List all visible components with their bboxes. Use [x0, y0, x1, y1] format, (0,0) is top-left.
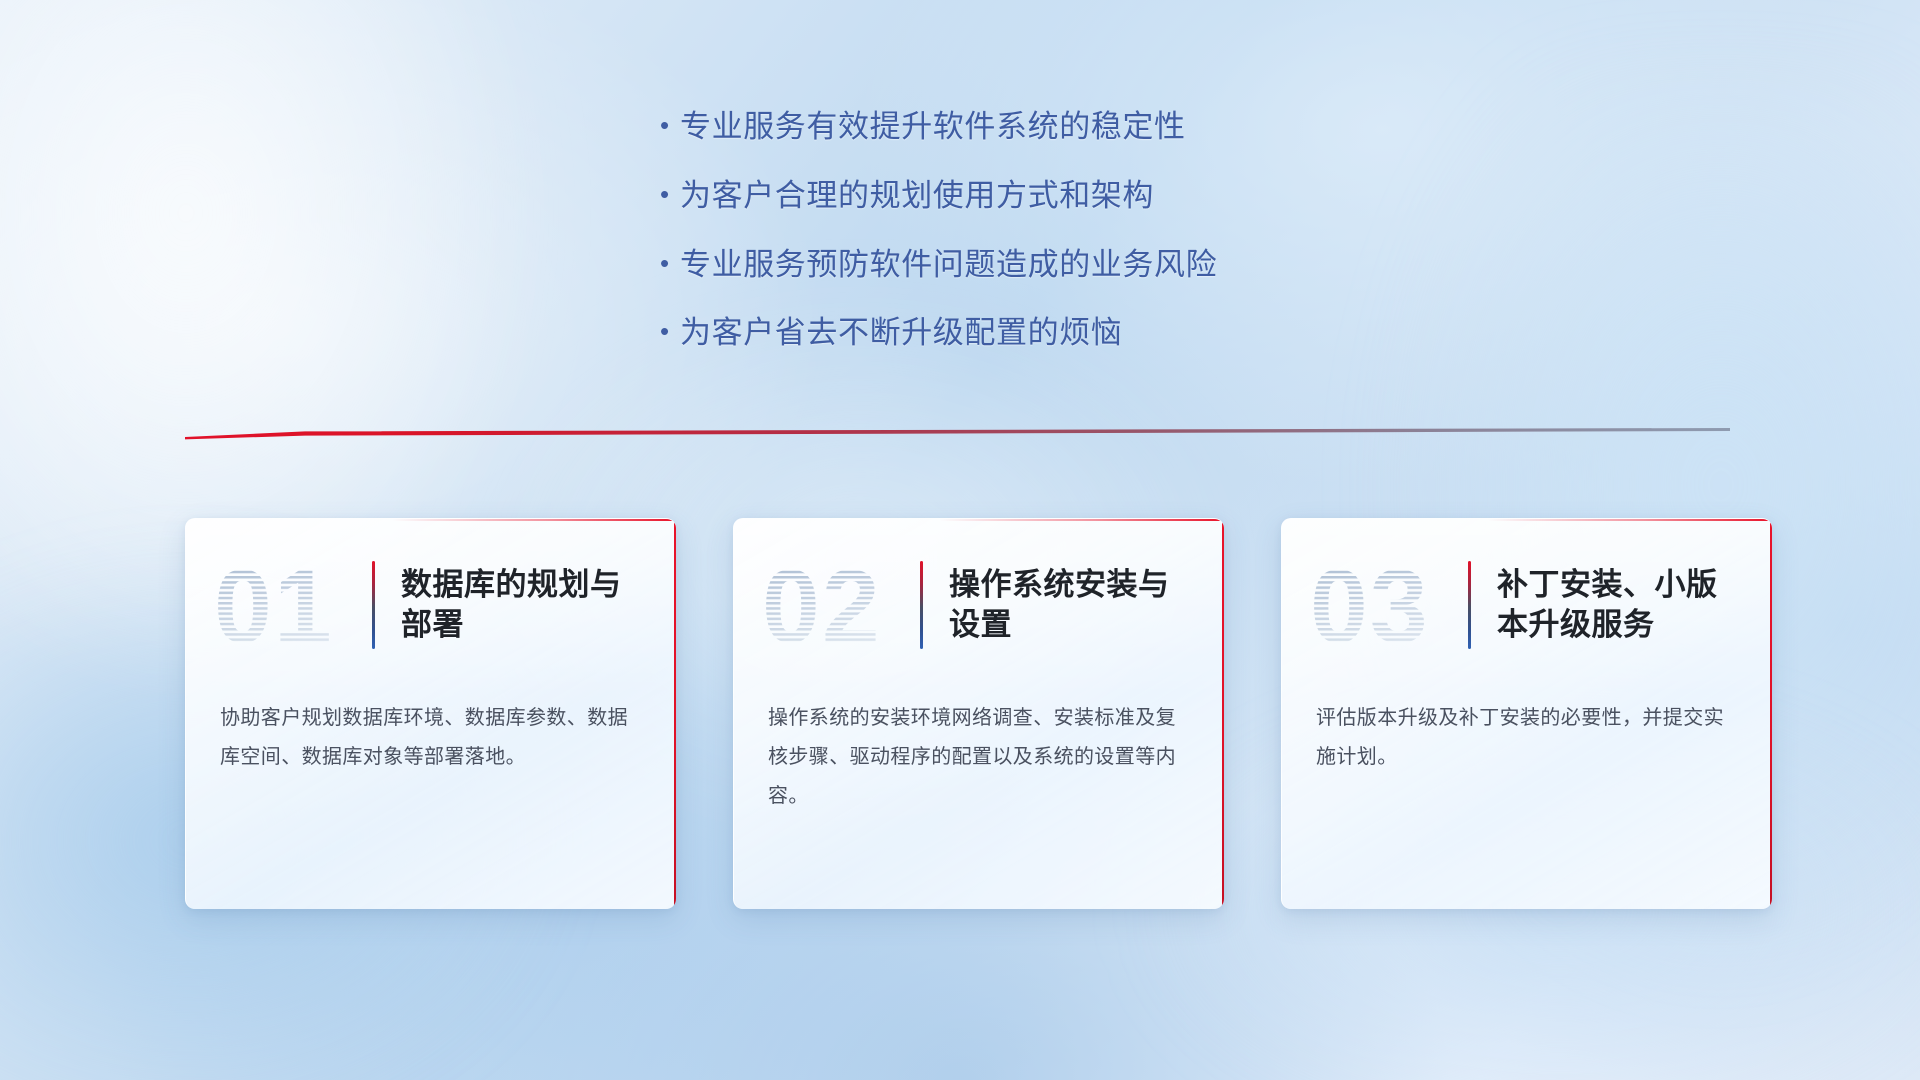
- bullet-item: • 专业服务有效提升软件系统的稳定性: [660, 108, 1520, 147]
- card-number-watermark: 02: [760, 550, 910, 660]
- bullet-label: 专业服务有效提升软件系统的稳定性: [680, 108, 1186, 147]
- service-card-02[interactable]: 02 操作系统安装与设置 操作系统的安装环境网络调查、安装标准及复核步骤、驱动程…: [733, 518, 1224, 909]
- bullet-label: 为客户合理的规划使用方式和架构: [680, 177, 1154, 216]
- card-header: 03 补丁安装、小版本升级服务: [1282, 519, 1772, 669]
- card-accent-bar: [1468, 561, 1471, 649]
- svg-text:03: 03: [1310, 550, 1430, 660]
- card-title: 数据库的规划与部署: [401, 565, 650, 646]
- benefits-bullet-list: • 专业服务有效提升软件系统的稳定性 • 为客户合理的规划使用方式和架构 • 专…: [660, 108, 1520, 383]
- bullet-dot-icon: •: [660, 112, 680, 138]
- card-title: 操作系统安装与设置: [949, 565, 1198, 646]
- card-title: 补丁安装、小版本升级服务: [1497, 565, 1746, 646]
- bullet-item: • 为客户省去不断升级配置的烦恼: [660, 314, 1520, 353]
- card-description: 评估版本升级及补丁安装的必要性，并提交实施计划。: [1282, 669, 1772, 777]
- striped-number-03-icon: 03: [1308, 550, 1458, 660]
- striped-number-02-icon: 02: [760, 550, 910, 660]
- service-card-03[interactable]: 03 补丁安装、小版本升级服务 评估版本升级及补丁安装的必要性，并提交实施计划。: [1281, 518, 1772, 909]
- bullet-item: • 专业服务预防软件问题造成的业务风险: [660, 246, 1520, 285]
- card-header: 02 操作系统安装与设置: [734, 519, 1224, 669]
- svg-text:01: 01: [214, 550, 334, 660]
- card-header: 01 数据库的规划与部署: [186, 519, 676, 669]
- service-card-01[interactable]: 01 数据库的规划与部署 协助客户规划数据库环境、数据库参数、数据库空间、数据库…: [185, 518, 676, 909]
- svg-text:02: 02: [762, 550, 882, 660]
- card-description: 协助客户规划数据库环境、数据库参数、数据库空间、数据库对象等部署落地。: [186, 669, 676, 777]
- bullet-dot-icon: •: [660, 318, 680, 344]
- section-divider: [185, 428, 1730, 442]
- divider-shape: [185, 428, 1730, 442]
- slide-canvas: • 专业服务有效提升软件系统的稳定性 • 为客户合理的规划使用方式和架构 • 专…: [0, 0, 1920, 1080]
- card-description: 操作系统的安装环境网络调查、安装标准及复核步骤、驱动程序的配置以及系统的设置等内…: [734, 669, 1224, 816]
- bullet-dot-icon: •: [660, 250, 680, 276]
- card-accent-bar: [920, 561, 923, 649]
- card-accent-bar: [372, 561, 375, 649]
- bullet-dot-icon: •: [660, 181, 680, 207]
- card-number-watermark: 03: [1308, 550, 1458, 660]
- bullet-label: 为客户省去不断升级配置的烦恼: [680, 314, 1122, 353]
- bullet-item: • 为客户合理的规划使用方式和架构: [660, 177, 1520, 216]
- striped-number-01-icon: 01: [212, 550, 362, 660]
- card-number-watermark: 01: [212, 550, 362, 660]
- bullet-label: 专业服务预防软件问题造成的业务风险: [680, 246, 1217, 285]
- service-card-row: 01 数据库的规划与部署 协助客户规划数据库环境、数据库参数、数据库空间、数据库…: [185, 518, 1772, 909]
